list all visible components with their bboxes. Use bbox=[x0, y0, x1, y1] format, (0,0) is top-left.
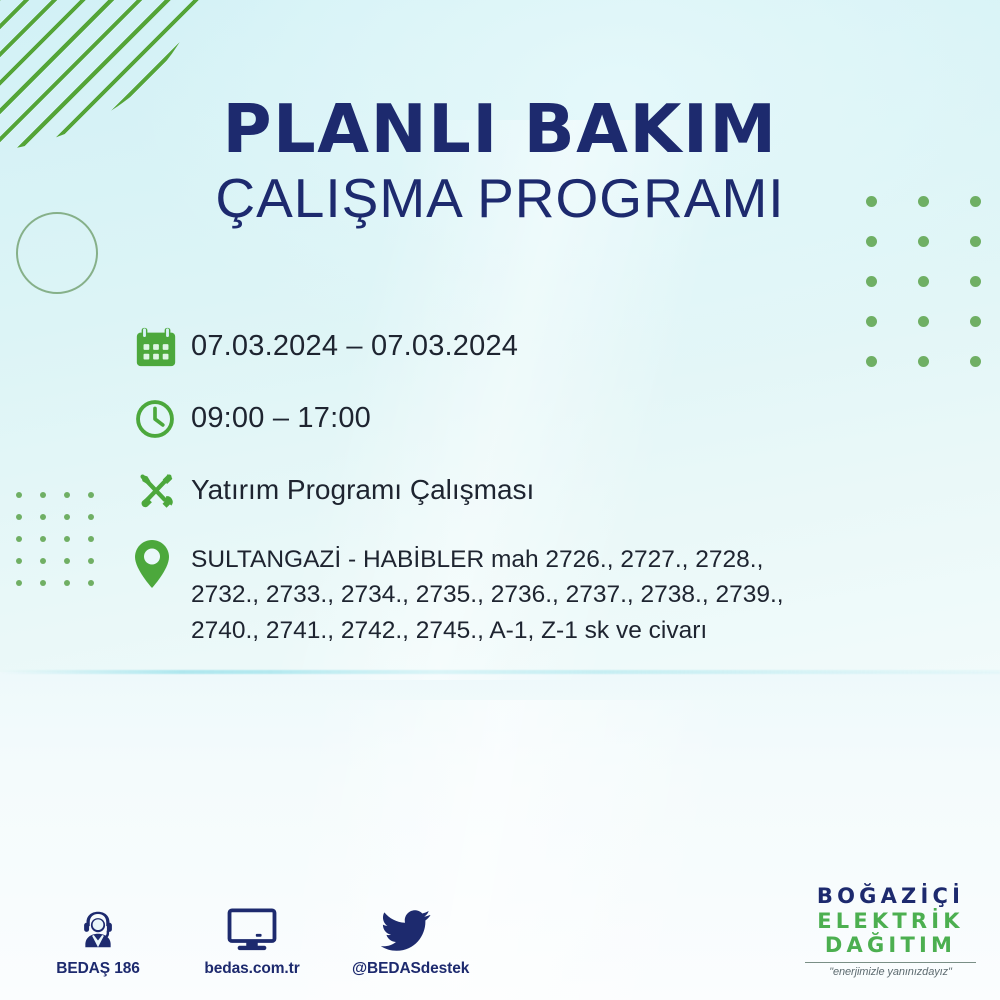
logo-line-dagitim: DAĞITIM bbox=[803, 933, 978, 957]
detail-row-work-type: Yatırım Programı Çalışması bbox=[133, 464, 913, 518]
contact-website-label: bedas.com.tr bbox=[198, 960, 306, 978]
headset-support-icon bbox=[44, 900, 152, 952]
planned-maintenance-poster: PLANLI BAKIM ÇALIŞMA PROGRAMI bbox=[0, 0, 1000, 1000]
monitor-website-icon bbox=[198, 900, 306, 952]
address-line: 2732., 2733., 2734., 2735., 2736., 2737.… bbox=[191, 577, 784, 612]
logo-divider bbox=[805, 962, 976, 964]
logo-line-bogazici: BOĞAZİÇİ bbox=[803, 884, 978, 908]
logo-tagline: "enerjimizle yanınızdayız" bbox=[803, 966, 978, 978]
contact-phone[interactable]: BEDAŞ 186 bbox=[44, 900, 152, 978]
contact-phone-label: BEDAŞ 186 bbox=[44, 960, 152, 978]
detail-row-address: SULTANGAZİ - HABİBLER mah 2726., 2727., … bbox=[133, 536, 913, 648]
date-range-value: 07.03.2024 – 07.03.2024 bbox=[191, 320, 518, 367]
detail-row-date: 07.03.2024 – 07.03.2024 bbox=[133, 320, 913, 374]
tools-icon bbox=[133, 464, 191, 518]
dot-grid-left-decoration bbox=[16, 492, 112, 602]
contact-website[interactable]: bedas.com.tr bbox=[198, 900, 306, 978]
detail-row-time: 09:00 – 17:00 bbox=[133, 392, 913, 446]
page-title: PLANLI BAKIM bbox=[0, 96, 1000, 163]
logo-line-elektrik: ELEKTRİK bbox=[803, 909, 978, 933]
footer-contacts: BEDAŞ 186 bedas.com.tr @BEDASdestek bbox=[44, 900, 460, 978]
calendar-icon bbox=[133, 320, 191, 374]
map-pin-icon bbox=[133, 536, 191, 590]
work-type-value: Yatırım Programı Çalışması bbox=[191, 464, 534, 510]
address-line: 2740., 2741., 2742., 2745., A-1, Z-1 sk … bbox=[191, 613, 784, 648]
background-divider bbox=[0, 670, 1000, 674]
time-range-value: 09:00 – 17:00 bbox=[191, 392, 371, 439]
bedas-logo: BOĞAZİÇİ ELEKTRİK DAĞITIM "enerjimizle y… bbox=[803, 884, 978, 978]
address-value: SULTANGAZİ - HABİBLER mah 2726., 2727., … bbox=[191, 536, 784, 648]
contact-twitter[interactable]: @BEDASdestek bbox=[352, 900, 460, 978]
twitter-bird-icon bbox=[352, 900, 460, 952]
poster-title-block: PLANLI BAKIM ÇALIŞMA PROGRAMI bbox=[0, 96, 1000, 226]
clock-icon bbox=[133, 392, 191, 446]
page-subtitle: ÇALIŞMA PROGRAMI bbox=[0, 171, 1000, 226]
maintenance-details: 07.03.2024 – 07.03.2024 09:00 – 17:00 bbox=[133, 320, 913, 666]
contact-twitter-label: @BEDASdestek bbox=[352, 960, 460, 978]
address-line: SULTANGAZİ - HABİBLER mah 2726., 2727., … bbox=[191, 542, 784, 577]
